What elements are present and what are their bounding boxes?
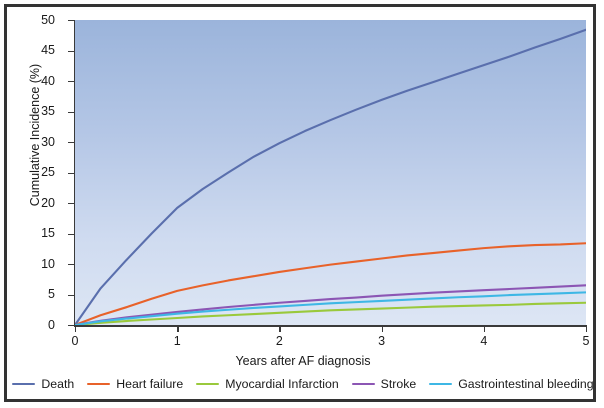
x-tick-mark bbox=[484, 326, 485, 332]
y-tick-label: 5 bbox=[21, 288, 55, 301]
x-tick-mark bbox=[279, 326, 280, 332]
legend-item[interactable]: Gastrointestinal bleeding bbox=[429, 378, 593, 390]
legend-item[interactable]: Myocardial Infarction bbox=[196, 378, 338, 390]
x-axis-line bbox=[74, 325, 587, 327]
x-tick-label: 1 bbox=[162, 335, 192, 348]
legend-label: Heart failure bbox=[116, 378, 183, 390]
legend-line-icon bbox=[352, 383, 375, 385]
chart-legend: DeathHeart failureMyocardial InfarctionS… bbox=[7, 378, 599, 390]
legend-label: Myocardial Infarction bbox=[225, 378, 338, 390]
legend-label: Gastrointestinal bleeding bbox=[458, 378, 593, 390]
legend-line-icon bbox=[429, 383, 452, 385]
x-tick-label: 3 bbox=[367, 335, 397, 348]
x-tick-mark bbox=[382, 326, 383, 332]
legend-item[interactable]: Stroke bbox=[352, 378, 417, 390]
y-tick-label: 50 bbox=[21, 14, 55, 27]
legend-item[interactable]: Death bbox=[12, 378, 74, 390]
legend-line-icon bbox=[196, 383, 219, 385]
x-tick-mark bbox=[586, 326, 587, 332]
x-tick-label: 2 bbox=[264, 335, 294, 348]
y-tick-label: 0 bbox=[21, 319, 55, 332]
legend-line-icon bbox=[12, 383, 35, 385]
legend-item[interactable]: Heart failure bbox=[87, 378, 183, 390]
legend-label: Death bbox=[41, 378, 74, 390]
x-tick-mark bbox=[75, 326, 76, 332]
figure-panel: 05101520253035404550 012345 Cumulative I… bbox=[4, 4, 596, 402]
x-tick-label: 4 bbox=[469, 335, 499, 348]
series-line bbox=[75, 30, 586, 325]
series-line bbox=[75, 243, 586, 325]
y-tick-label: 10 bbox=[21, 258, 55, 271]
x-tick-label: 0 bbox=[60, 335, 90, 348]
legend-label: Stroke bbox=[381, 378, 417, 390]
cumulative-incidence-curves bbox=[75, 20, 586, 325]
x-tick-mark bbox=[177, 326, 178, 332]
x-tick-label: 5 bbox=[571, 335, 601, 348]
legend-line-icon bbox=[87, 383, 110, 385]
x-axis-label: Years after AF diagnosis bbox=[7, 354, 599, 368]
plot-area bbox=[75, 20, 586, 325]
y-axis-label: Cumulative Incidence (%) bbox=[28, 35, 42, 235]
